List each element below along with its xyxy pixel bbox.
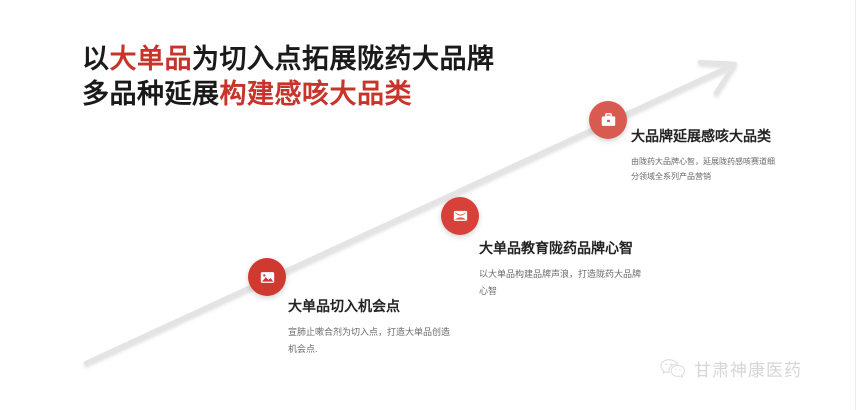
watermark-label: 甘肃神康医药: [694, 356, 802, 381]
briefcase-icon: [601, 113, 616, 127]
wechat-icon: [660, 358, 686, 379]
title-line-2-pre: 多品种延展: [82, 79, 220, 109]
slide-canvas: 以大单品为切入点拓展陇药大品牌 多品种延展构建感咳大品类: [0, 0, 864, 410]
milestone-2-body: 以大单品构建品牌声浪，打造陇药大品牌心智: [479, 266, 644, 300]
watermark: 甘肃神康医药: [660, 356, 802, 381]
milestone-3-title: 大品牌延展感咳大品类: [631, 126, 781, 146]
right-edge-divider: [855, 0, 856, 410]
milestone-1-title: 大单品切入机会点: [288, 296, 453, 316]
milestone-1-body: 宣肺止嗽合剂为切入点，打造大单品创造机会点.: [288, 324, 453, 358]
envelope-icon: [453, 210, 468, 222]
milestone-node-2[interactable]: [441, 197, 479, 235]
title-line-1-post: 为切入点拓展陇药大品牌: [192, 44, 495, 74]
milestone-node-1[interactable]: [248, 258, 286, 296]
title-line-1-accent: 大单品: [110, 44, 193, 74]
title-line-1: 以大单品为切入点拓展陇药大品牌: [82, 42, 702, 77]
milestone-3-body: 由陇药大品牌心智，延展陇药感咳赛道细分领域全系列产品营销: [631, 154, 781, 184]
milestone-text-1: 大单品切入机会点 宣肺止嗽合剂为切入点，打造大单品创造机会点.: [288, 296, 453, 358]
milestone-2-title: 大单品教育陇药品牌心智: [479, 238, 644, 258]
picture-icon: [260, 271, 275, 284]
title-line-1-pre: 以: [82, 44, 110, 74]
milestone-node-3[interactable]: [589, 101, 627, 139]
milestone-text-2: 大单品教育陇药品牌心智 以大单品构建品牌声浪，打造陇药大品牌心智: [479, 238, 644, 300]
milestone-text-3: 大品牌延展感咳大品类 由陇药大品牌心智，延展陇药感咳赛道细分领域全系列产品营销: [631, 126, 781, 184]
title-line-2-accent: 构建感咳大品类: [220, 79, 413, 109]
